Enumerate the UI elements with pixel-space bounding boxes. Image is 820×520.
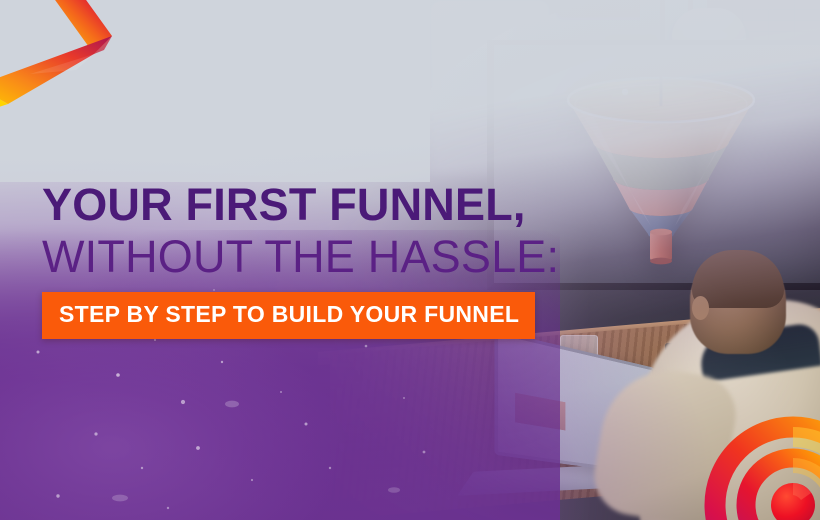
cta-badge[interactable]: STEP BY STEP TO BUILD YOUR FUNNEL <box>42 292 535 339</box>
headline-line-1: YOUR FIRST FUNNEL, <box>42 180 602 230</box>
bent-arrow-logo-mark <box>0 0 125 112</box>
cta-badge-label: STEP BY STEP TO BUILD YOUR FUNNEL <box>59 301 519 327</box>
promo-banner: YOUR FIRST FUNNEL, WITHOUT THE HASSLE: S… <box>0 0 820 520</box>
headline-line-2: WITHOUT THE HASSLE: <box>42 230 602 284</box>
concentric-target-logo-mark <box>693 405 820 520</box>
headline-block: YOUR FIRST FUNNEL, WITHOUT THE HASSLE: S… <box>42 180 602 339</box>
